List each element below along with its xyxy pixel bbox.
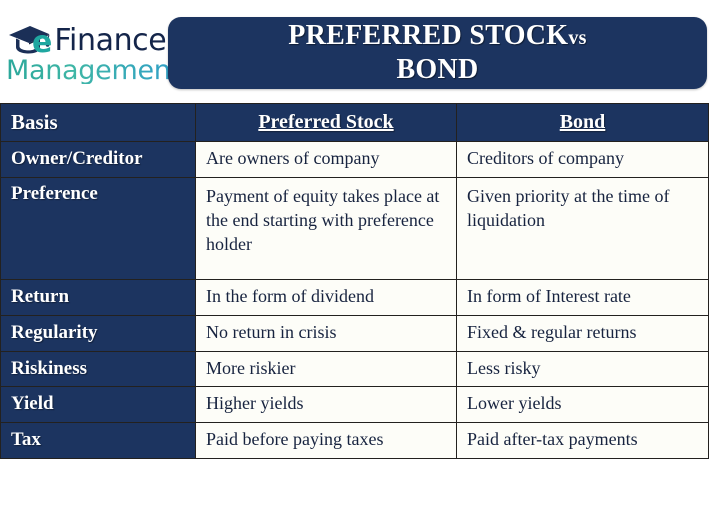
comparison-table: Basis Preferred Stock Bond Owner/Credito…: [0, 103, 709, 459]
page-title-main: PREFERRED STOCK: [288, 20, 568, 51]
row-basis-label: Return: [1, 280, 196, 316]
header-preferred-stock: Preferred Stock: [196, 104, 457, 142]
page-title-second: BOND: [396, 54, 478, 85]
table-header-row: Basis Preferred Stock Bond: [1, 104, 709, 142]
table-row: Regularity No return in crisis Fixed & r…: [1, 315, 709, 351]
row-preferred-stock-value: More riskier: [196, 351, 457, 387]
brand-logo-management: Management: [4, 57, 180, 84]
comparison-table-container: Basis Preferred Stock Bond Owner/Credito…: [0, 103, 710, 522]
row-basis-label: Yield: [1, 387, 196, 423]
row-basis-label: Riskiness: [1, 351, 196, 387]
table-row: Tax Paid before paying taxes Paid after-…: [1, 423, 709, 459]
row-basis-label: Preference: [1, 178, 196, 280]
table-row: Yield Higher yields Lower yields: [1, 387, 709, 423]
brand-logo[interactable]: e Finance Management: [4, 14, 180, 90]
table-row: Return In the form of dividend In form o…: [1, 280, 709, 316]
page-header: e Finance Management PREFERRED STOCKvs B…: [0, 0, 720, 103]
row-bond-value: Lower yields: [457, 387, 709, 423]
brand-logo-finance: Finance: [54, 26, 166, 56]
row-basis-label: Regularity: [1, 315, 196, 351]
row-preferred-stock-value: Are owners of company: [196, 142, 457, 178]
table-row: Riskiness More riskier Less risky: [1, 351, 709, 387]
row-basis-label: Tax: [1, 423, 196, 459]
header-basis: Basis: [1, 104, 196, 142]
brand-logo-e: e: [32, 28, 52, 58]
row-bond-value: In form of Interest rate: [457, 280, 709, 316]
row-preferred-stock-value: Payment of equity takes place at the end…: [196, 178, 457, 280]
header-bond: Bond: [457, 104, 709, 142]
row-bond-value: Fixed & regular returns: [457, 315, 709, 351]
page-title: PREFERRED STOCKvs BOND: [274, 19, 601, 87]
page-title-vs: vs: [568, 27, 586, 49]
row-bond-value: Less risky: [457, 351, 709, 387]
row-basis-label: Owner/Creditor: [1, 142, 196, 178]
row-preferred-stock-value: No return in crisis: [196, 315, 457, 351]
table-row: Preference Payment of equity takes place…: [1, 178, 709, 280]
brand-logo-top-line: e Finance: [4, 20, 180, 58]
title-banner: PREFERRED STOCKvs BOND: [168, 17, 707, 89]
row-bond-value: Creditors of company: [457, 142, 709, 178]
row-preferred-stock-value: In the form of dividend: [196, 280, 457, 316]
row-bond-value: Given priority at the time of liquidatio…: [457, 178, 709, 280]
row-bond-value: Paid after-tax payments: [457, 423, 709, 459]
table-row: Owner/Creditor Are owners of company Cre…: [1, 142, 709, 178]
row-preferred-stock-value: Paid before paying taxes: [196, 423, 457, 459]
row-preferred-stock-value: Higher yields: [196, 387, 457, 423]
